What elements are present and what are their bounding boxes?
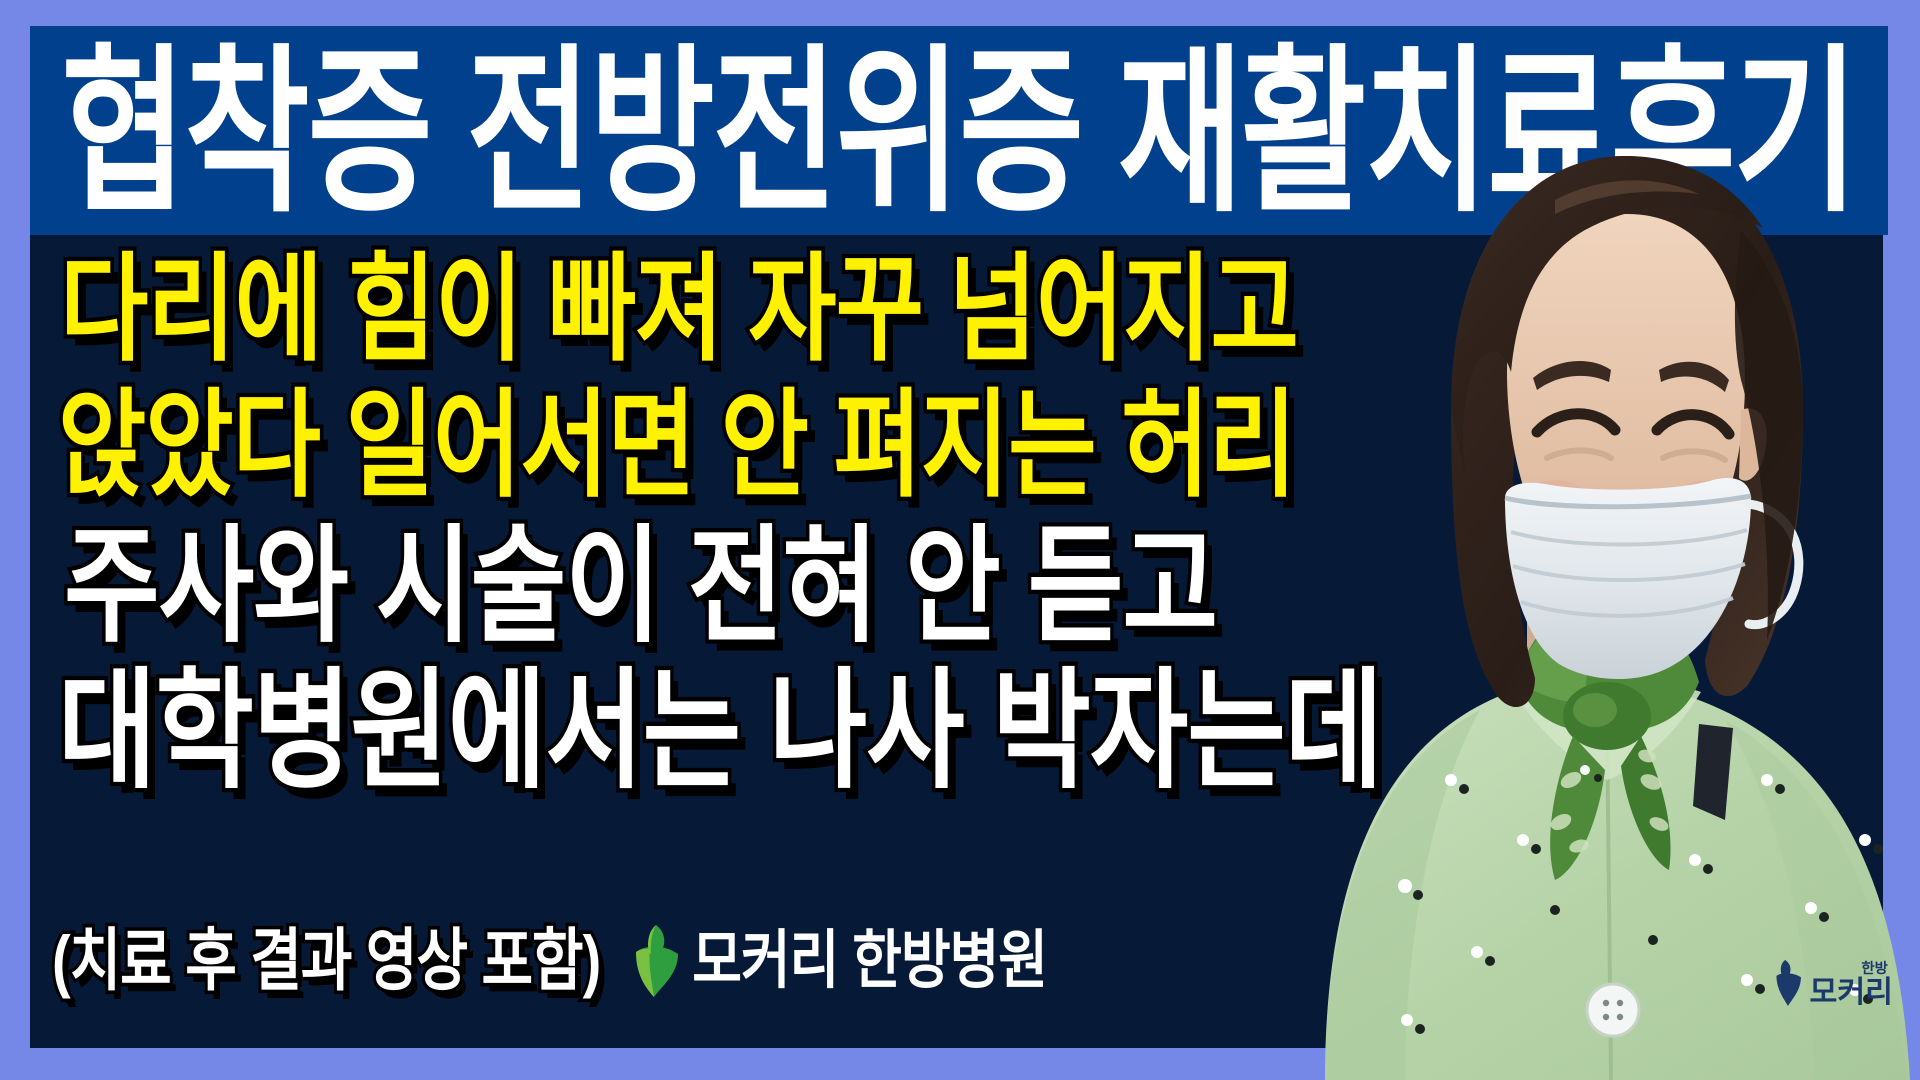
headline-line-4: 대학병원에서는 나사 박자는데: [58, 666, 1382, 797]
headline-line-1: 다리에 힘이 빠져 자꾸 넘어지고: [60, 252, 1298, 369]
title-bar: 협착증 전방전위증 재활치료후기: [30, 26, 1888, 235]
thumbnail-canvas: 협착증 전방전위증 재활치료후기: [0, 0, 1920, 1080]
footer-strip: (치료 후 결과 영상 포함) 모커리 한방병원: [52, 924, 1047, 998]
leaf-heart-icon: [634, 924, 680, 998]
headline-line-2: 앉았다 일어서면 안 펴지는 허리: [58, 388, 1296, 505]
brand-name: 모커리 한방병원: [692, 929, 1047, 993]
footer-note: (치료 후 결과 영상 포함): [52, 927, 600, 995]
headline-line-3: 주사와 시술이 전혀 안 듣고: [64, 524, 1217, 651]
brand-lockup: 모커리 한방병원: [634, 924, 1047, 998]
page-title: 협착증 전방전위증 재활치료후기: [61, 42, 1856, 222]
